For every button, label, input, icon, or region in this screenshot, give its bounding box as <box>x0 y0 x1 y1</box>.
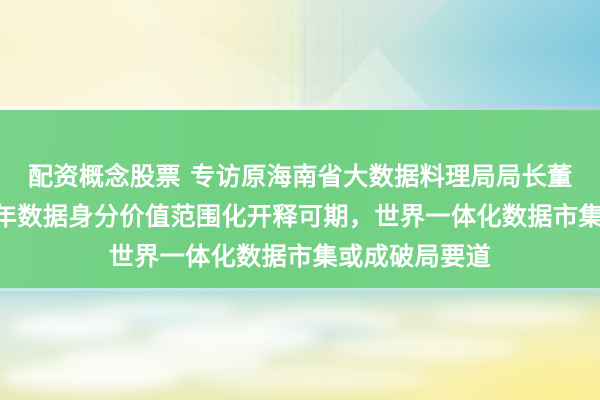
headline-line-3: 世界一体化数据市集或成破局要道 <box>0 237 600 277</box>
cloud-shape <box>10 314 130 340</box>
top-gradient-zone <box>0 0 600 110</box>
article-hero-banner: 配资概念股票 专访原海南省大数据料理局局长董 年数据身分价值范围化开释可期，世界… <box>0 0 600 400</box>
cloud-shape <box>0 362 180 392</box>
decorative-facet-wedge-right <box>300 0 450 110</box>
decorative-facet-triangle-small <box>318 46 434 110</box>
headline-text-block: 配资概念股票 专访原海南省大数据料理局局长董 年数据身分价值范围化开释可期，世界… <box>0 110 600 277</box>
decorative-facet-light-plane <box>140 0 340 110</box>
decorative-grid-texture <box>200 0 520 110</box>
bottom-sky-zone <box>0 288 600 400</box>
headline-line-2: 年数据身分价值范围化开释可期，世界一体化数据市集 <box>0 197 600 237</box>
cloud-shape <box>200 366 430 392</box>
headline-green-band: 配资概念股票 专访原海南省大数据料理局局长董 年数据身分价值范围化开释可期，世界… <box>0 110 600 288</box>
cloud-shape <box>430 304 590 326</box>
cloud-shape <box>330 334 520 360</box>
headline-line-1: 配资概念股票 专访原海南省大数据料理局局长董 <box>0 157 600 197</box>
